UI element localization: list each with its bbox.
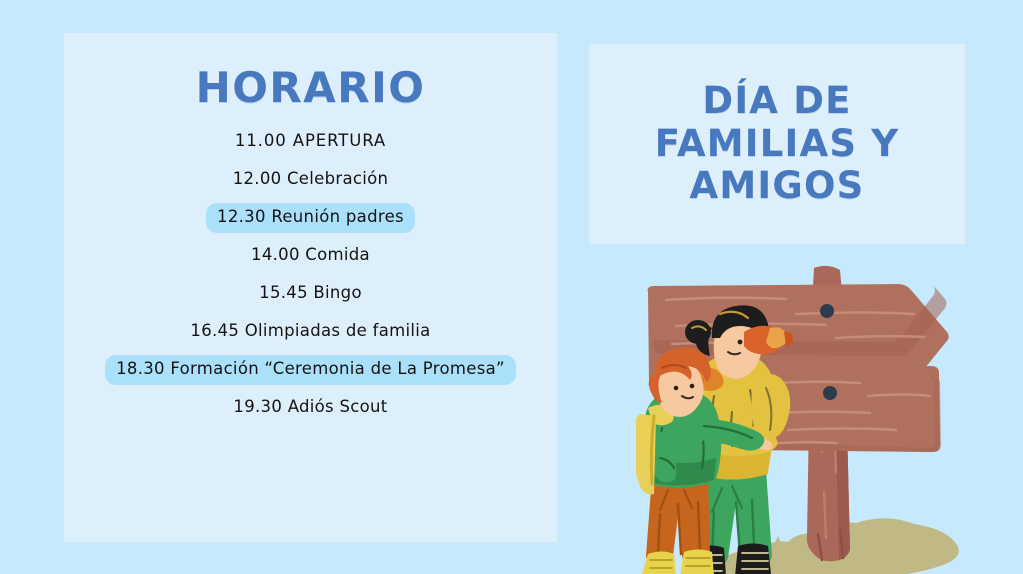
event-title-panel: DÍA DE FAMILIAS Y AMIGOS [589, 44, 965, 244]
schedule-item: 12.00 Celebración [74, 161, 547, 199]
signpost-nail-icon [823, 386, 837, 400]
schedule-item: 15.45 Bingo [74, 275, 547, 313]
event-title-line-2: FAMILIAS Y [655, 123, 900, 166]
schedule-item-label: 18.30 Formación “Ceremonia de La Promesa… [105, 355, 516, 384]
event-title-line-1: DÍA DE [702, 80, 851, 123]
schedule-list: 11.00 APERTURA 12.00 Celebración 12.30 R… [74, 123, 547, 427]
schedule-item: 14.00 Comida [74, 237, 547, 275]
schedule-item-label: 14.00 Comida [240, 241, 381, 270]
schedule-item-highlighted: 12.30 Reunión padres [74, 199, 547, 237]
schedule-item-label: 11.00 APERTURA [224, 127, 397, 156]
hikers-signpost-illustration [636, 262, 976, 574]
schedule-item-label: 12.00 Celebración [222, 165, 400, 194]
boots-yellow-icon [641, 550, 714, 574]
schedule-item: 19.30 Adiós Scout [74, 389, 547, 427]
signpost-nail-icon [820, 304, 834, 318]
event-title-line-3: AMIGOS [690, 165, 865, 208]
schedule-item-label: 19.30 Adiós Scout [222, 393, 398, 422]
schedule-item-label: 16.45 Olimpiadas de familia [179, 317, 441, 346]
schedule-title: HORARIO [74, 67, 547, 109]
schedule-item: 16.45 Olimpiadas de familia [74, 313, 547, 351]
schedule-item: 11.00 APERTURA [74, 123, 547, 161]
schedule-item-label: 15.45 Bingo [248, 279, 373, 308]
schedule-item-highlighted: 18.30 Formación “Ceremonia de La Promesa… [74, 351, 547, 389]
schedule-item-label: 12.30 Reunión padres [206, 203, 415, 232]
poster-canvas: HORARIO 11.00 APERTURA 12.00 Celebración… [0, 0, 1023, 574]
schedule-panel: HORARIO 11.00 APERTURA 12.00 Celebración… [64, 33, 557, 542]
